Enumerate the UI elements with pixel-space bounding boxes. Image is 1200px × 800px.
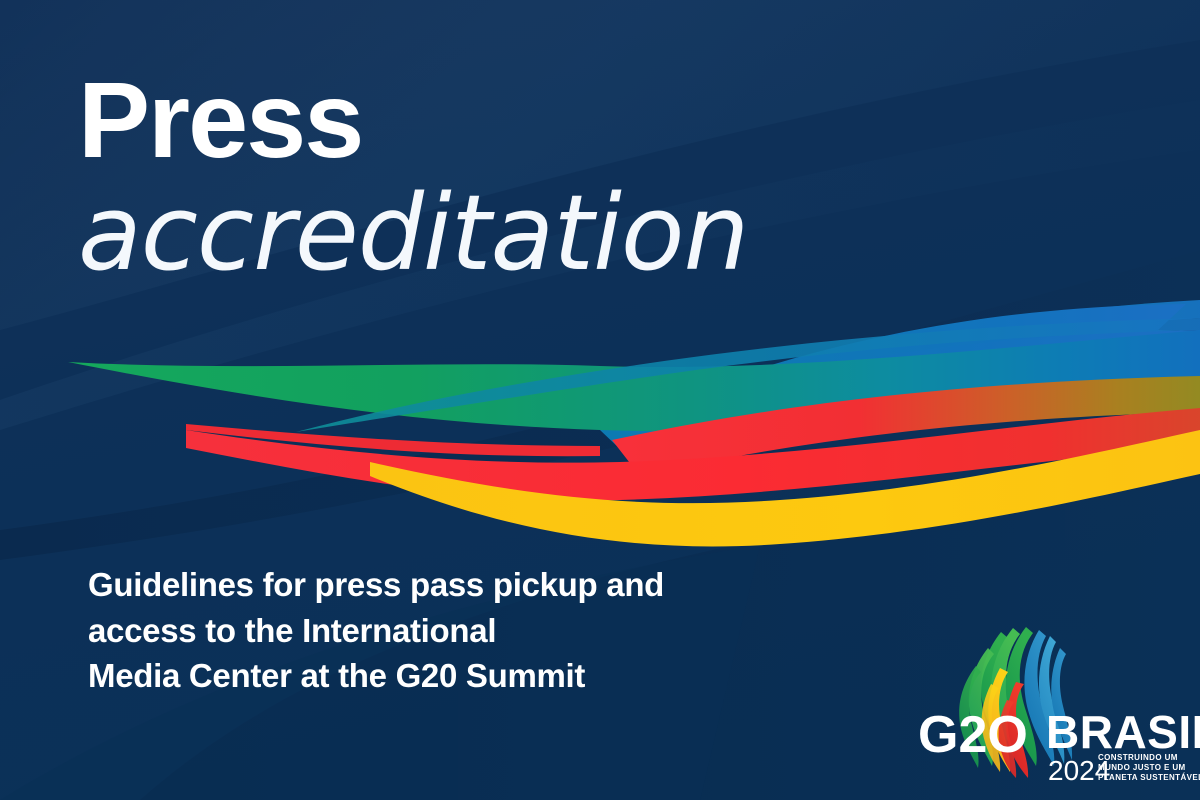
press-accreditation-banner: Press accreditation Guidelines for press… <box>0 0 1200 800</box>
logo-tagline-line-2: MUNDO JUSTO E UM <box>1098 763 1186 772</box>
logo-tagline-line-3: PLANETA SUSTENTÁVEL <box>1098 773 1200 782</box>
logo-tagline-line-1: CONSTRUINDO UM <box>1098 753 1178 762</box>
logo-country-text: BRASIL <box>1046 706 1200 758</box>
g20-brasil-logo: G2O BRASIL 2024 CONSTRUINDO UM MUNDO JUS… <box>0 0 1200 800</box>
logo-g20-text: G2O <box>918 706 1028 764</box>
